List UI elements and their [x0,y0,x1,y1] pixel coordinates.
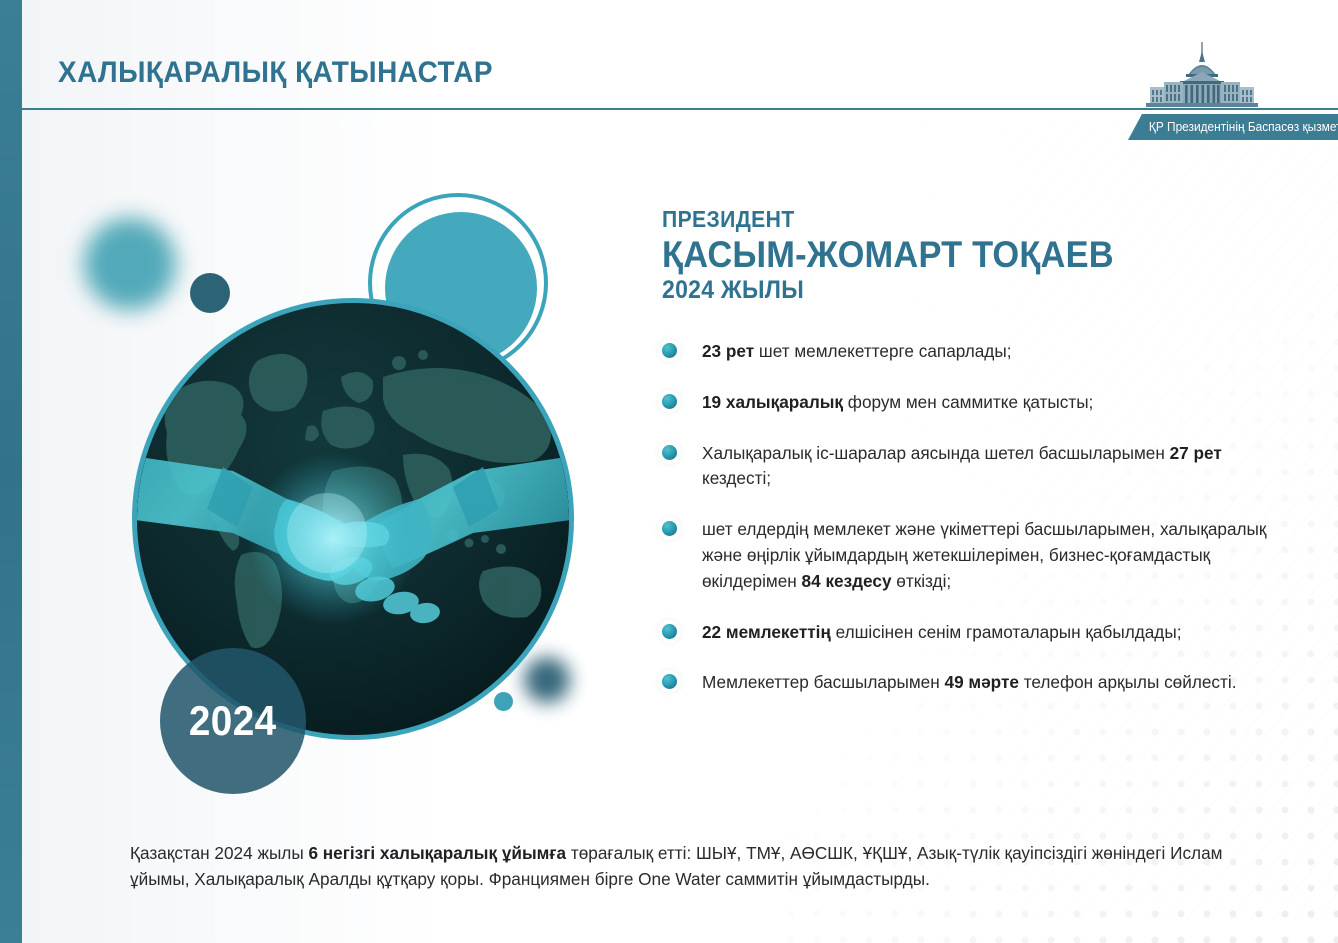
emphasis-text: 22 мемлекеттің [702,622,831,642]
bullet-dot-icon [662,521,677,536]
decorative-blurred-navy-dot-icon [524,657,570,703]
emphasis-text: 27 рет [1170,443,1222,463]
body-text: Қазақстан 2024 жылы [130,843,308,863]
body-text: кездесті; [702,468,771,488]
list-item: 22 мемлекеттің елшісінен сенім грамотала… [662,620,1276,646]
list-item: 23 рет шет мемлекеттерге сапарлады; [662,339,1276,365]
year-badge: 2024 [160,648,306,794]
heading-year: 2024 ЖЫЛЫ [662,276,1227,305]
list-item: Халықаралық іс-шаралар аясында шетел бас… [662,441,1276,493]
emphasis-text: 23 рет [702,341,754,361]
list-item: шет елдердің мемлекет және үкіметтері ба… [662,517,1276,594]
body-text: өткізді; [892,571,952,591]
president-name: ҚАСЫМ-ЖОМАРТ ТОҚАЕВ [662,235,1233,275]
bullet-dot-icon [662,445,677,460]
content-column: ПРЕЗИДЕНТ ҚАСЫМ-ЖОМАРТ ТОҚАЕВ 2024 ЖЫЛЫ … [662,206,1276,696]
emphasis-text: 19 халықаралық [702,392,843,412]
body-text: форум мен саммитке қатысты; [843,392,1093,412]
emphasis-text: 84 кездесу [802,571,892,591]
decorative-teal-dot-icon [494,692,513,711]
press-service-logo: ҚР Президентінің Баспасөз қызметі [1128,42,1338,140]
statistics-list: 23 рет шет мемлекеттерге сапарлады;19 ха… [662,339,1276,696]
press-service-banner: ҚР Президентінің Баспасөз қызметі [1128,114,1338,140]
emphasis-text: 49 мәрте [945,672,1019,692]
year-badge-label: 2024 [189,697,277,745]
left-accent-bar [0,0,22,943]
decorative-navy-circle-icon [190,273,230,313]
heading-kicker: ПРЕЗИДЕНТ [662,206,1227,233]
bullet-dot-icon [662,674,677,689]
list-item: 19 халықаралық форум мен саммитке қатыст… [662,390,1276,416]
slide-root: ХАЛЫҚАРАЛЫҚ ҚАТЫНАСТАР [0,0,1338,943]
body-text: Халықаралық іс-шаралар аясында шетел бас… [702,443,1170,463]
body-text: телефон арқылы сөйлесті. [1019,672,1237,692]
bullet-dot-icon [662,343,677,358]
decorative-blurred-circle-icon [84,218,176,310]
page-title: ХАЛЫҚАРАЛЫҚ ҚАТЫНАСТАР [58,56,493,90]
emphasis-text: 6 негізгі халықаралық ұйымға [308,843,566,863]
body-text: шет елдердің мемлекет және үкіметтері ба… [702,519,1266,591]
list-item: Мемлекеттер басшыларымен 49 мәрте телефо… [662,670,1276,696]
bullet-dot-icon [662,394,677,409]
body-text: шет мемлекеттерге сапарлады; [754,341,1011,361]
body-text: Мемлекеттер басшыларымен [702,672,945,692]
akorda-palace-icon [1142,42,1262,108]
bullet-dot-icon [662,624,677,639]
footer-caption: Қазақстан 2024 жылы 6 негізгі халықаралы… [130,840,1230,892]
body-text: елшісінен сенім грамоталарын қабылдады; [831,622,1182,642]
press-service-label: ҚР Президентінің Баспасөз қызметі [1128,120,1338,134]
